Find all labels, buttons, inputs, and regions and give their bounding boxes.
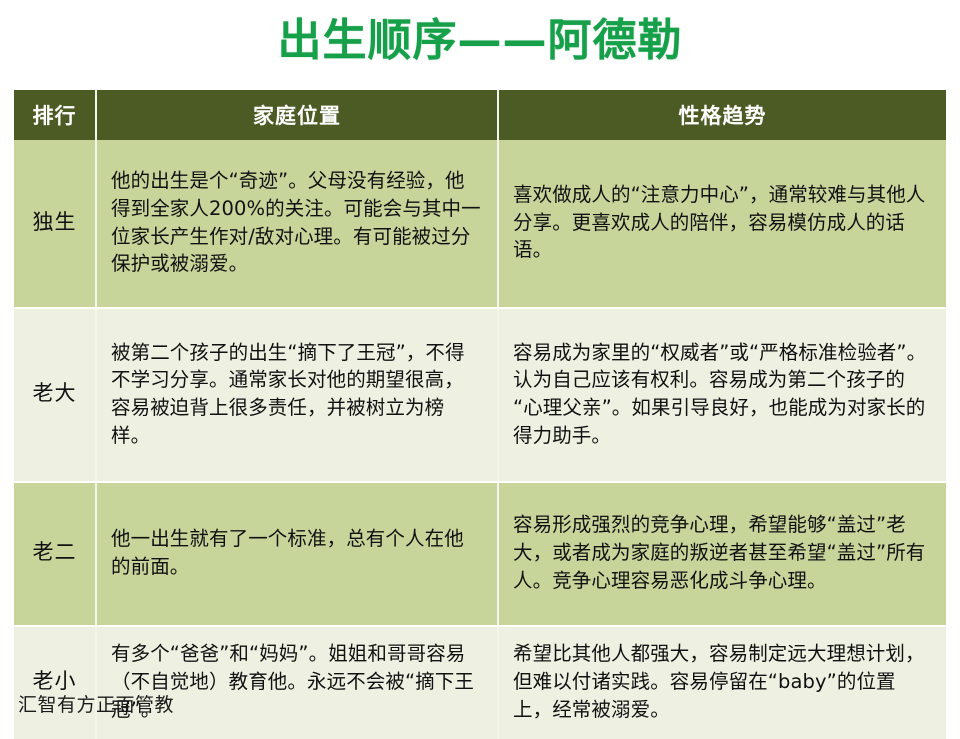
row-trait-only-child: 喜欢做成人的“注意力中心”，通常较难与其他人分享。更喜欢成人的陪伴，容易模仿成人… <box>498 140 946 308</box>
footer-attribution: 汇智有方正面管教 <box>18 690 174 717</box>
row-trait-youngest: 希望比其他人都强大，容易制定远大理想计划，但难以付诸实践。容易停留在“baby”… <box>498 626 946 739</box>
row-rank-second-born: 老二 <box>14 482 96 626</box>
row-trait-first-born: 容易成为家里的“权威者”或“严格标准检验者”。认为自己应该有权利。容易成为第二个… <box>498 308 946 482</box>
row-position-first-born: 被第二个孩子的出生“摘下了王冠”，不得不学习分享。通常家长对他的期望很高，容易被… <box>96 308 498 482</box>
birth-order-table-wrapper: 排行 家庭位置 性格趋势 独生 他的出生是个“奇迹”。父母没有经验，他得到全家人… <box>14 90 946 739</box>
row-position-second-born: 他一出生就有了一个标准，总有个人在他的前面。 <box>96 482 498 626</box>
row-rank-first-born: 老大 <box>14 308 96 482</box>
table-row: 老二 他一出生就有了一个标准，总有个人在他的前面。 容易形成强烈的竞争心理，希望… <box>14 482 946 626</box>
slide-title-bar: 出生顺序——阿德勒 <box>0 8 960 74</box>
row-position-youngest: 有多个“爸爸”和“妈妈”。姐姐和哥哥容易（不自觉地）教育他。永远不会被“摘下王冠… <box>96 626 498 739</box>
birth-order-table: 排行 家庭位置 性格趋势 独生 他的出生是个“奇迹”。父母没有经验，他得到全家人… <box>14 90 946 739</box>
table-header-row: 排行 家庭位置 性格趋势 <box>14 90 946 140</box>
row-rank-youngest: 老小 <box>14 626 96 739</box>
slide-root: 出生顺序——阿德勒 排行 家庭位置 性格趋势 独生 他的出生是个“奇迹”。父母没… <box>0 0 960 720</box>
page-title: 出生顺序——阿德勒 <box>278 19 683 63</box>
table-body: 独生 他的出生是个“奇迹”。父母没有经验，他得到全家人200%的关注。可能会与其… <box>14 140 946 739</box>
row-position-only-child: 他的出生是个“奇迹”。父母没有经验，他得到全家人200%的关注。可能会与其中一位… <box>96 140 498 308</box>
row-trait-second-born: 容易形成强烈的竞争心理，希望能够“盖过”老大，或者成为家庭的叛逆者甚至希望“盖过… <box>498 482 946 626</box>
table-header: 排行 家庭位置 性格趋势 <box>14 90 946 140</box>
table-row: 独生 他的出生是个“奇迹”。父母没有经验，他得到全家人200%的关注。可能会与其… <box>14 140 946 308</box>
table-row: 老大 被第二个孩子的出生“摘下了王冠”，不得不学习分享。通常家长对他的期望很高，… <box>14 308 946 482</box>
column-header-family-position: 家庭位置 <box>96 90 498 140</box>
column-header-rank: 排行 <box>14 90 96 140</box>
row-rank-only-child: 独生 <box>14 140 96 308</box>
column-header-personality-tendency: 性格趋势 <box>498 90 946 140</box>
table-row: 老小 有多个“爸爸”和“妈妈”。姐姐和哥哥容易（不自觉地）教育他。永远不会被“摘… <box>14 626 946 739</box>
